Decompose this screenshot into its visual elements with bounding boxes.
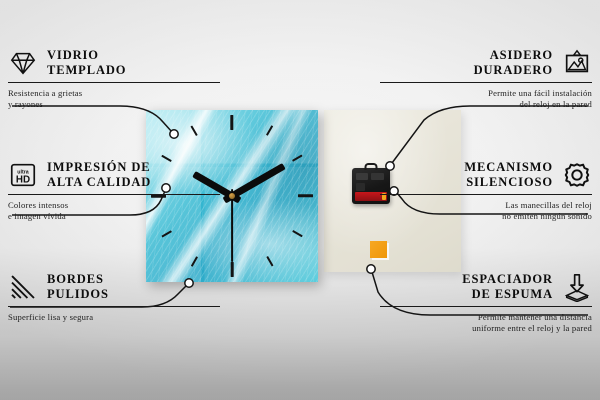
clock-tick: [266, 125, 274, 136]
clock-center-cap: [229, 193, 235, 199]
clock-hand-second: [231, 189, 233, 262]
clock-tick: [161, 230, 172, 238]
feature-title-line2: DURADERO: [474, 63, 553, 78]
feature-header: BORDES PULIDOS: [8, 272, 220, 302]
mechanism-hanger: [365, 163, 378, 170]
feature-description: Permite mantener una distancia uniforme …: [380, 312, 592, 334]
clock-tick: [190, 125, 198, 136]
feature-title-line2: ALTA CALIDAD: [47, 175, 151, 190]
feature-desc-line1: Permite una fácil instalación: [488, 88, 592, 98]
feature-desc-line1: Superficie lisa y segura: [8, 312, 93, 322]
clock-tick: [266, 256, 274, 267]
ultra-hd-badge-icon: ultra HD: [8, 160, 38, 190]
feature-title: MECANISMO SILENCIOSO: [464, 160, 553, 190]
clock-tick: [298, 194, 313, 197]
feature-mecanismo-silencioso: MECANISMO SILENCIOSO Las manecillas del …: [380, 160, 592, 222]
feature-description: Resistencia a grietas y rayones: [8, 88, 220, 110]
gear-icon: [562, 160, 592, 190]
feature-divider: [380, 306, 592, 307]
feature-title-line1: BORDES: [47, 272, 104, 286]
feature-description: Permite una fácil instalación del reloj …: [380, 88, 592, 110]
feature-divider: [380, 194, 592, 195]
feature-asidero-duradero: ASIDERO DURADERO Permite una fácil insta…: [380, 48, 592, 110]
feature-vidrio-templado: VIDRIO TEMPLADO Resistencia a grietas y …: [8, 48, 220, 110]
feature-title: ESPACIADOR DE ESPUMA: [462, 272, 553, 302]
feature-header: ultra HD IMPRESIÓN DE ALTA CALIDAD: [8, 160, 220, 190]
clock-tick: [292, 154, 303, 162]
feature-title-line1: VIDRIO: [47, 48, 99, 62]
feature-divider: [8, 306, 220, 307]
feature-desc-line2: e imagen vívida: [8, 211, 220, 222]
svg-text:HD: HD: [16, 175, 30, 186]
mechanism-detail: [356, 183, 365, 191]
clock-tick: [190, 256, 198, 267]
infographic-stage: VIDRIO TEMPLADO Resistencia a grietas y …: [0, 0, 600, 400]
diamond-icon: [8, 48, 38, 78]
feature-impresion-alta-calidad: ultra HD IMPRESIÓN DE ALTA CALIDAD Color…: [8, 160, 220, 222]
feature-title-line1: IMPRESIÓN DE: [47, 160, 151, 174]
feature-title-line2: DE ESPUMA: [462, 287, 553, 302]
clock-tick: [292, 230, 303, 238]
feature-desc-line2: y rayones: [8, 99, 220, 110]
feature-header: MECANISMO SILENCIOSO: [380, 160, 592, 190]
feature-header: VIDRIO TEMPLADO: [8, 48, 220, 78]
feature-desc-line1: Resistencia a grietas: [8, 88, 82, 98]
feature-header: ESPACIADOR DE ESPUMA: [380, 272, 592, 302]
feature-bordes-pulidos: BORDES PULIDOS Superficie lisa y segura: [8, 272, 220, 323]
feature-desc-line1: Colores intensos: [8, 200, 68, 210]
feature-desc-line2: del reloj en la pared: [380, 99, 592, 110]
feature-desc-line1: Las manecillas del reloj: [505, 200, 592, 210]
mechanism-detail: [356, 173, 368, 180]
feature-desc-line2: no emiten ningún sonido: [380, 211, 592, 222]
feature-title-line1: ASIDERO: [490, 48, 553, 62]
feature-title-line2: TEMPLADO: [47, 63, 126, 78]
feature-divider: [380, 82, 592, 83]
feature-description: Colores intensos e imagen vívida: [8, 200, 220, 222]
feature-header: ASIDERO DURADERO: [380, 48, 592, 78]
feature-espaciador-de-espuma: ESPACIADOR DE ESPUMA Permite mantener un…: [380, 272, 592, 334]
feature-title-line1: ESPACIADOR: [462, 272, 553, 286]
feature-description: Las manecillas del reloj no emiten ningú…: [380, 200, 592, 222]
feature-title-line1: MECANISMO: [464, 160, 553, 174]
clock-tick: [230, 115, 233, 130]
feature-divider: [8, 82, 220, 83]
foam-spacer: [370, 241, 387, 258]
hanging-picture-frame-icon: [562, 48, 592, 78]
feature-title: BORDES PULIDOS: [47, 272, 109, 302]
feature-title-line2: PULIDOS: [47, 287, 109, 302]
feature-desc-line1: Permite mantener una distancia: [478, 312, 592, 322]
feature-title: IMPRESIÓN DE ALTA CALIDAD: [47, 160, 151, 190]
feature-title: VIDRIO TEMPLADO: [47, 48, 126, 78]
feature-title-line2: SILENCIOSO: [464, 175, 553, 190]
polished-edges-icon: [8, 272, 38, 302]
feature-description: Superficie lisa y segura: [8, 312, 220, 323]
foam-spacer-press-icon: [562, 272, 592, 302]
feature-desc-line2: uniforme entre el reloj y la pared: [380, 323, 592, 334]
feature-divider: [8, 194, 220, 195]
clock-tick: [230, 262, 233, 277]
feature-title: ASIDERO DURADERO: [474, 48, 553, 78]
